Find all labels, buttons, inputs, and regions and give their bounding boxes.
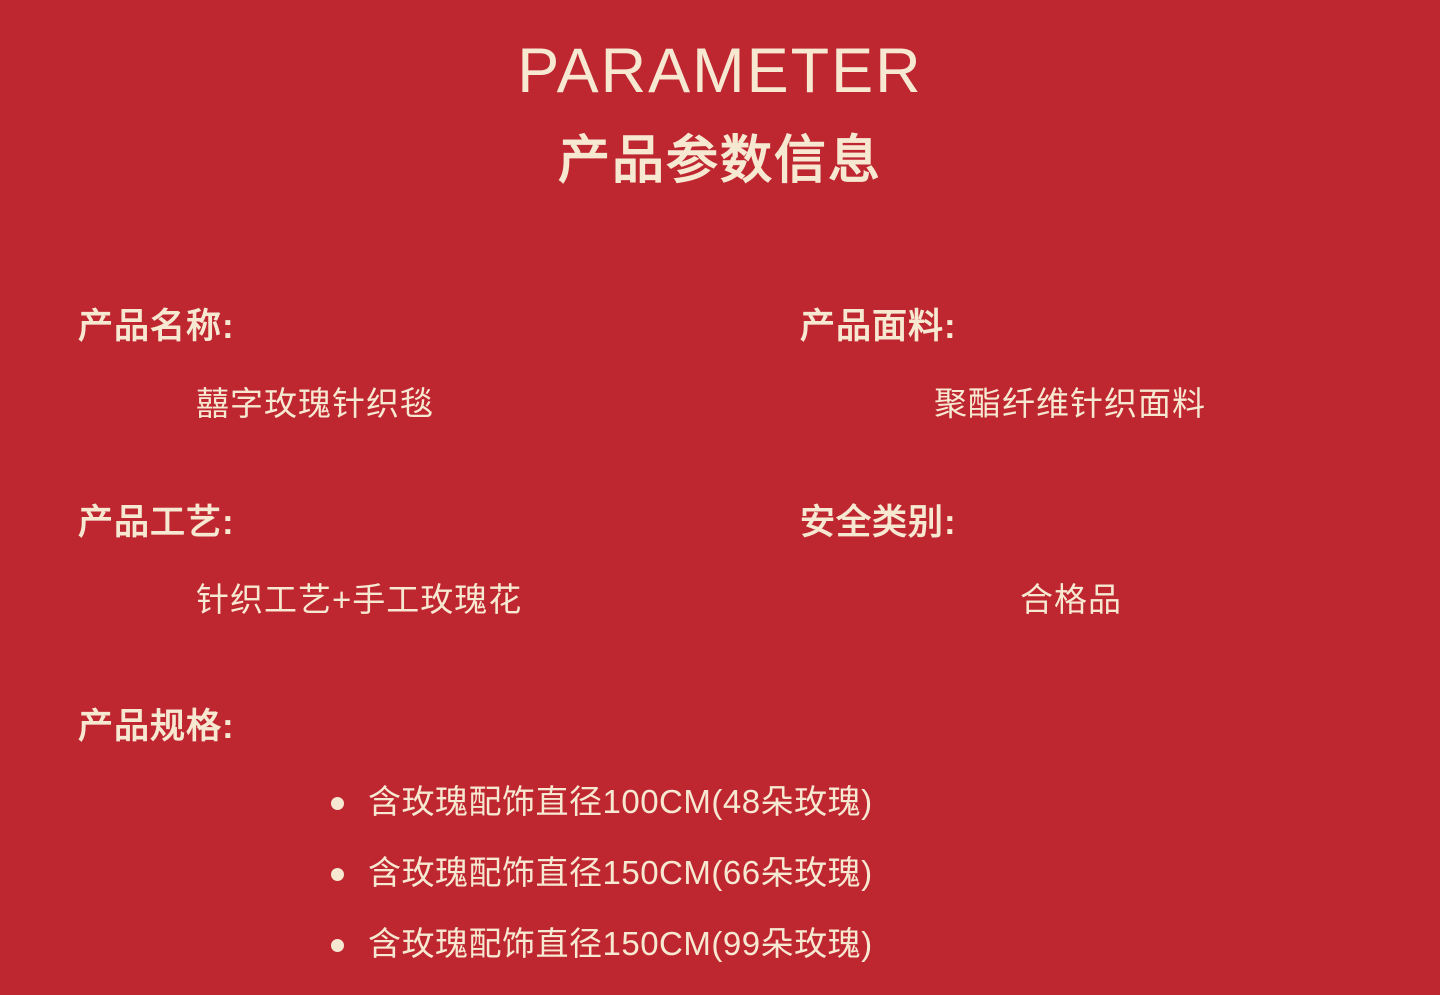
spec-label-product-name: 产品名称: xyxy=(78,305,700,349)
list-item-label: 含玫瑰配饰直径150CM(66朵玫瑰) xyxy=(368,854,873,891)
spec-item-fabric: 产品面料: 聚酯纤维针织面料 xyxy=(740,305,1440,425)
spec-value-craft: 针织工艺+手工玫瑰花 xyxy=(78,579,700,621)
bullet-dot-icon xyxy=(331,939,344,952)
spec-label-specifications: 产品规格: xyxy=(0,705,1440,749)
list-item: 含玫瑰配饰直径150CM(99朵玫瑰) xyxy=(0,923,1440,964)
spec-value-safety-category: 合格品 xyxy=(800,579,1440,621)
spec-value-product-name: 囍字玫瑰针织毯 xyxy=(78,383,700,425)
spec-label-fabric: 产品面料: xyxy=(800,305,1440,349)
page-header: PARAMETER 产品参数信息 xyxy=(0,34,1440,192)
bullet-dot-icon xyxy=(331,868,344,881)
list-item-label: 含玫瑰配饰直径150CM(99朵玫瑰) xyxy=(368,925,873,962)
parameter-page: PARAMETER 产品参数信息 产品名称: 囍字玫瑰针织毯 产品面料: 聚酯纤… xyxy=(0,0,1440,995)
bullet-dot-icon xyxy=(331,797,344,810)
page-title-chinese: 产品参数信息 xyxy=(0,130,1440,192)
specifications-section: 产品规格: 含玫瑰配饰直径100CM(48朵玫瑰) 含玫瑰配饰直径150CM(6… xyxy=(0,705,1440,964)
spec-grid: 产品名称: 囍字玫瑰针织毯 产品面料: 聚酯纤维针织面料 产品工艺: 针织工艺+… xyxy=(0,305,1440,621)
spec-item-safety-category: 安全类别: 合格品 xyxy=(740,501,1440,621)
list-item: 含玫瑰配饰直径150CM(66朵玫瑰) xyxy=(0,852,1440,893)
spec-item-product-name: 产品名称: 囍字玫瑰针织毯 xyxy=(0,305,700,425)
list-item: 含玫瑰配饰直径100CM(48朵玫瑰) xyxy=(0,781,1440,822)
spec-label-craft: 产品工艺: xyxy=(78,501,700,545)
specifications-list: 含玫瑰配饰直径100CM(48朵玫瑰) 含玫瑰配饰直径150CM(66朵玫瑰) … xyxy=(0,781,1440,964)
spec-label-safety-category: 安全类别: xyxy=(800,501,1440,545)
spec-value-fabric: 聚酯纤维针织面料 xyxy=(800,383,1440,425)
list-item-label: 含玫瑰配饰直径100CM(48朵玫瑰) xyxy=(368,783,873,820)
spec-item-craft: 产品工艺: 针织工艺+手工玫瑰花 xyxy=(0,501,700,621)
page-title-english: PARAMETER xyxy=(0,34,1440,108)
